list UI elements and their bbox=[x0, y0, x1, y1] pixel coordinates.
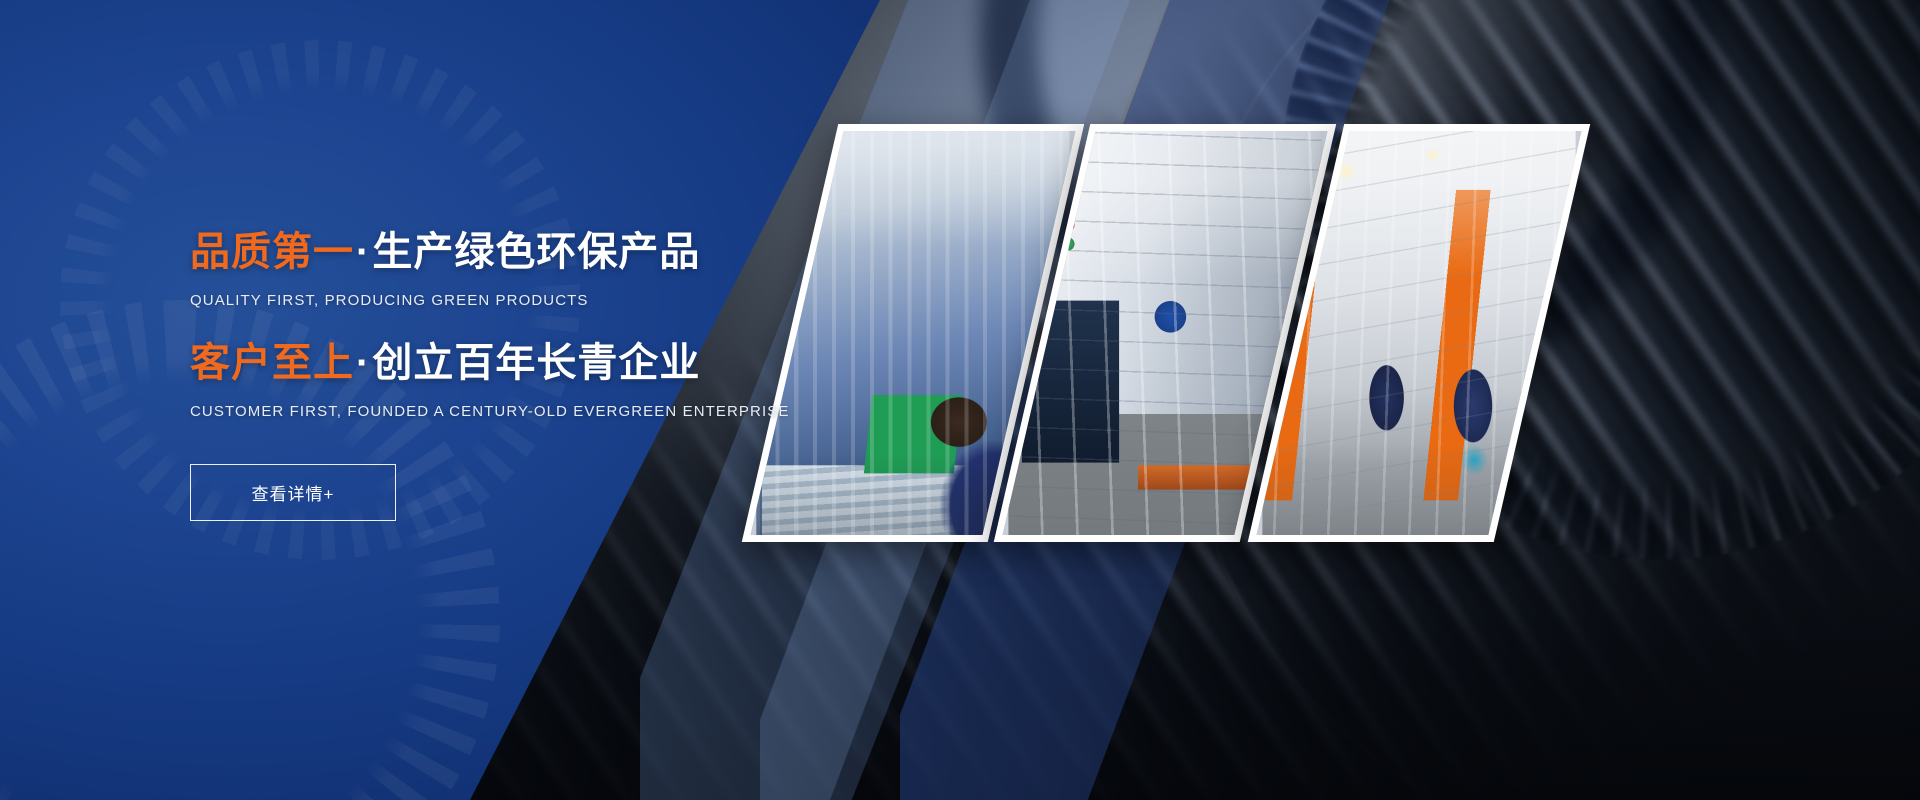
headline-secondary-separator: · bbox=[354, 341, 372, 385]
hero-copy-block: 品质第一·生产绿色环保产品 QUALITY FIRST, PRODUCING G… bbox=[190, 232, 890, 521]
headline-primary: 品质第一·生产绿色环保产品 bbox=[190, 232, 890, 272]
headline-secondary-rest: 创立百年长青企业 bbox=[372, 341, 700, 385]
headline-primary-highlight: 品质第一 bbox=[190, 230, 354, 274]
view-details-button[interactable]: 查看详情+ bbox=[190, 464, 396, 521]
headline-primary-separator: · bbox=[354, 230, 372, 274]
headline-primary-rest: 生产绿色环保产品 bbox=[372, 230, 700, 274]
subtitle-primary: QUALITY FIRST, PRODUCING GREEN PRODUCTS bbox=[190, 292, 890, 309]
headline-secondary: 客户至上·创立百年长青企业 bbox=[190, 343, 890, 383]
headline-secondary-highlight: 客户至上 bbox=[190, 341, 354, 385]
subtitle-secondary: CUSTOMER FIRST, FOUNDED A CENTURY-OLD EV… bbox=[190, 403, 890, 420]
copy-spacer bbox=[190, 309, 890, 343]
hero-banner: 品质第一·生产绿色环保产品 QUALITY FIRST, PRODUCING G… bbox=[0, 0, 1920, 800]
